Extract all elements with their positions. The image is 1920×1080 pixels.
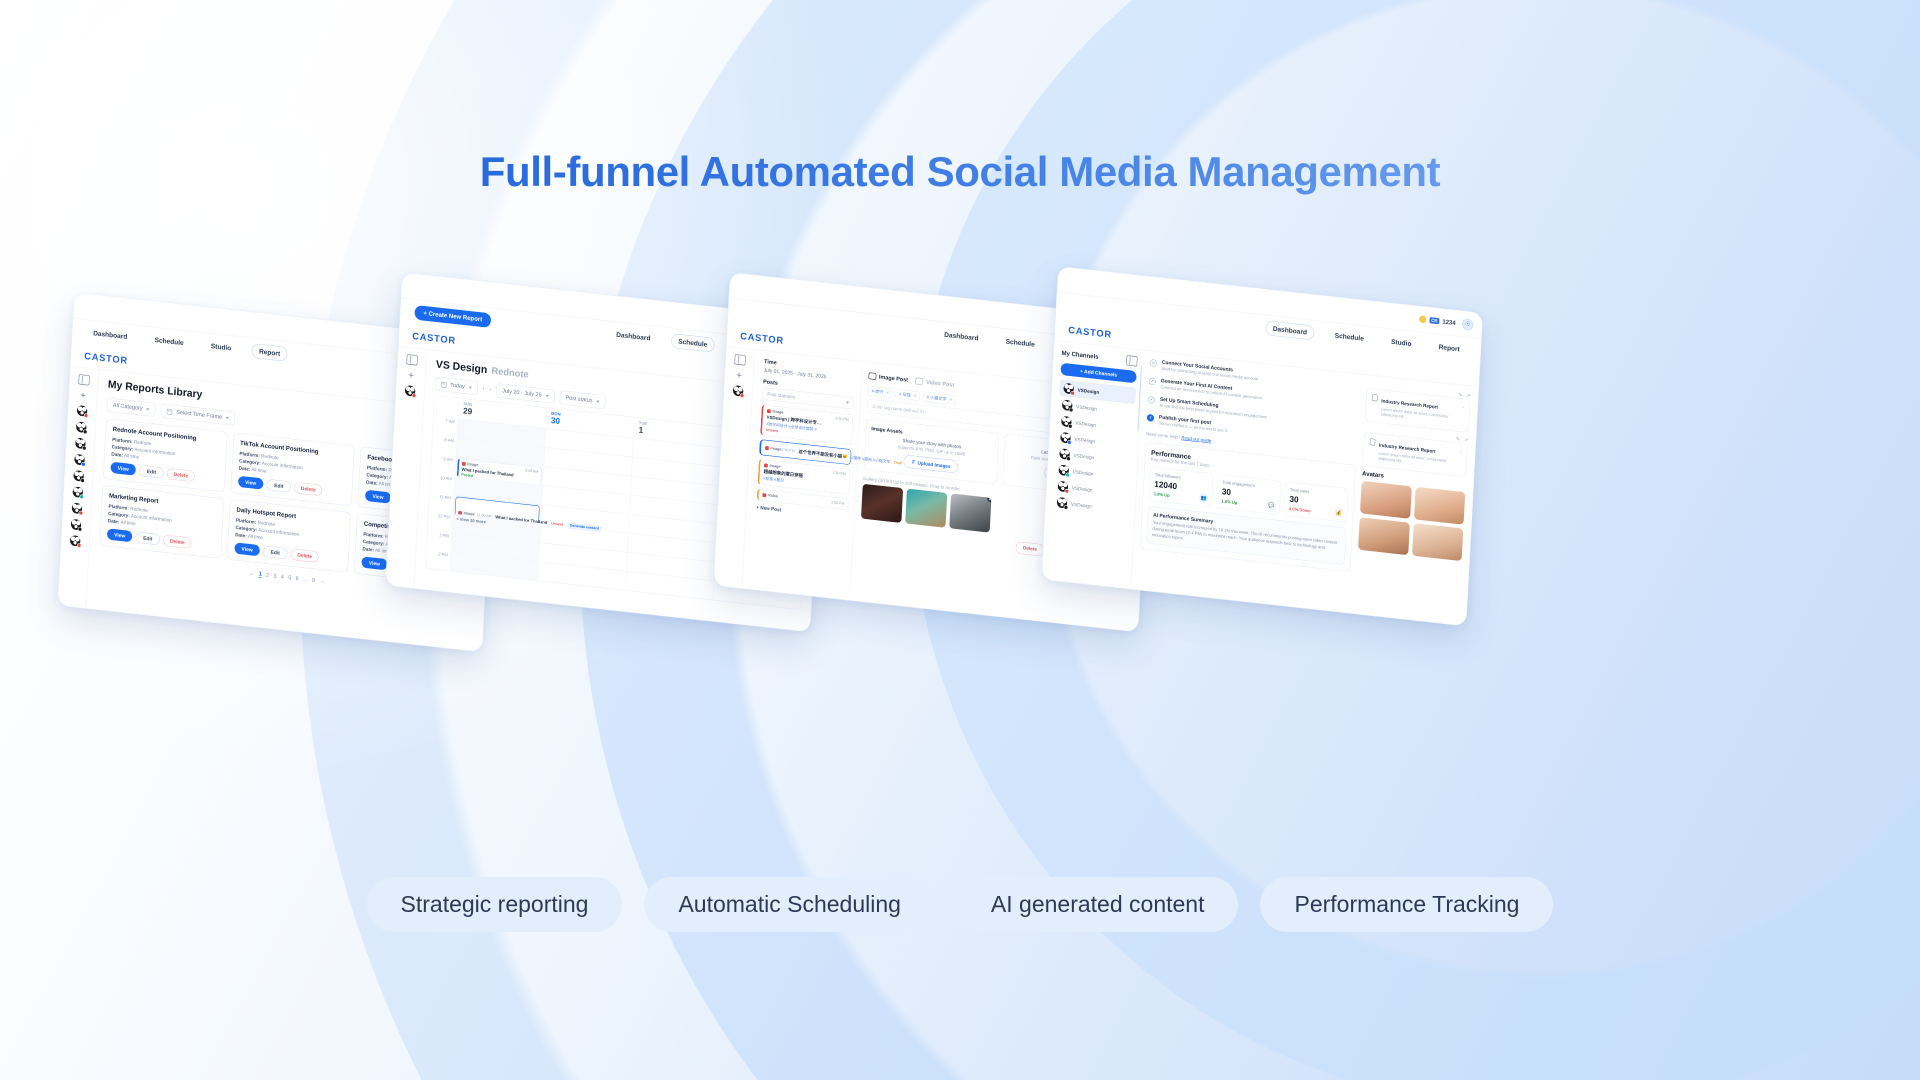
nav-schedule[interactable]: Schedule [1328, 328, 1371, 346]
dashboard-main: ✓ Connect Your Social Accounts Start by … [1138, 358, 1360, 606]
report-date: All time [251, 466, 266, 473]
performance-card: Performance Key metrics for the last 7 d… [1140, 442, 1356, 572]
upload-images-label: Upload Images [917, 460, 950, 469]
image-icon [868, 372, 876, 380]
next-week-icon[interactable]: › [489, 386, 491, 392]
post-time: 2:30 PM [833, 471, 846, 476]
report-card[interactable]: TikTok Account Positioning Platform: Red… [230, 432, 355, 506]
label-date: Date: [239, 465, 251, 472]
post-time: 2:30 PM [781, 448, 794, 453]
channel-avatar [1057, 497, 1068, 509]
gallery-label: Gallery [863, 476, 877, 483]
feature-captions: Strategic reporting Automatic Scheduling… [0, 877, 1920, 932]
channel-avatar[interactable] [71, 502, 82, 514]
sidebar-toggle-icon[interactable] [1126, 355, 1137, 366]
hour-label: 1 PM [427, 530, 452, 552]
schedule-platform-name: Rednote [491, 365, 529, 380]
nav-dashboard[interactable]: Dashboard [937, 327, 985, 346]
avatar-thumbnail[interactable] [1412, 523, 1464, 561]
chevron-right-icon[interactable]: › [1460, 448, 1462, 454]
delete-button[interactable]: Delete [290, 549, 318, 563]
add-channel-icon[interactable]: + [408, 370, 414, 380]
today-button[interactable]: Today [435, 377, 479, 396]
sidebar-toggle-icon[interactable] [78, 374, 89, 385]
label-date: Date: [366, 479, 378, 486]
caption-strategic-reporting: Strategic reporting [367, 877, 623, 932]
pagination-page[interactable]: 6 [295, 575, 298, 581]
credits-indicator: CR 1234 [1419, 315, 1456, 326]
calendar-icon [441, 381, 447, 387]
prev-week-icon[interactable]: ‹ [483, 386, 485, 392]
delete-button[interactable]: Delete [294, 482, 322, 496]
edit-icon[interactable]: ✎ [1458, 392, 1462, 399]
metric-card: Total followers 12040 1.8% Up 👥 [1148, 467, 1213, 508]
channel-avatar [1057, 481, 1068, 493]
gallery-thumbnail[interactable] [861, 484, 903, 523]
channel-avatar[interactable] [74, 454, 85, 466]
close-icon[interactable]: ✕ [949, 397, 953, 402]
step-check-icon: ✓ [1148, 396, 1155, 404]
channel-avatar[interactable] [77, 405, 88, 417]
coin-icon [1419, 315, 1426, 323]
avatar-thumbnail[interactable] [1360, 481, 1412, 519]
pagination-page[interactable]: 3 [273, 573, 276, 579]
channel-avatar [1060, 432, 1071, 444]
channel-avatar[interactable] [405, 385, 416, 397]
user-avatar-icon[interactable]: ☉ [1462, 318, 1474, 330]
delete-button[interactable]: Delete [167, 468, 195, 482]
timeframe-filter[interactable]: Select Time Frame [161, 404, 236, 426]
upload-images-button[interactable]: ⇧ Upload Images [903, 454, 959, 473]
upload-icon: ⇧ [911, 459, 915, 466]
image-type-icon [764, 463, 768, 467]
post-type: Image [770, 446, 781, 451]
tag-chip[interactable]: # 穿搭✕ [895, 389, 920, 401]
tab-video-post[interactable]: Video Post [916, 378, 955, 389]
chevron-down-icon [846, 401, 849, 404]
tab-video-post-label: Video Post [926, 379, 954, 388]
post-list-item[interactable]: Image 4:30 PM VSDesign | 跨学科设计专… #跨学科设计 … [760, 405, 853, 446]
report-card[interactable]: Daily Hotspot Report Platform: Rednote C… [227, 499, 352, 573]
tag-chip[interactable]: # 小猫文学✕ [923, 392, 957, 405]
label-date: Date: [362, 546, 374, 553]
channel-name: VSDesign [1078, 387, 1100, 395]
pagination-page[interactable]: 1 [258, 571, 261, 578]
channel-avatar[interactable] [73, 470, 84, 482]
image-assets-dropzone[interactable]: Image Assets Share your story with photo… [864, 418, 1000, 484]
chevron-down-icon [469, 386, 472, 389]
add-channel-icon[interactable]: + [80, 390, 86, 400]
channel-name: VSDesign [1071, 501, 1092, 509]
my-channels-sidebar: My Channels + Add Channels VSDesign VSDe… [1050, 348, 1144, 582]
page-title: Full-funnel Automated Social Media Manag… [0, 148, 1920, 196]
my-channels-label: My Channels [1061, 350, 1098, 361]
category-filter[interactable]: All Category [107, 398, 157, 417]
label-date: Date: [235, 532, 247, 539]
close-icon[interactable]: ✕ [885, 390, 889, 395]
channel-avatar[interactable] [71, 519, 82, 531]
post-status-label: Post status [565, 395, 592, 404]
post-time: 2:30 PM [831, 501, 844, 506]
castor-logo: CASTOR [1068, 324, 1112, 340]
gallery-thumbnail-selected[interactable]: ✕ [949, 494, 991, 533]
document-icon [1372, 394, 1378, 401]
hour-label: 8 AM [432, 435, 457, 457]
channel-name: VSDesign [1076, 404, 1097, 412]
share-icon[interactable]: ↗ [1466, 393, 1470, 400]
channel-avatar [1058, 464, 1069, 476]
chevron-down-icon [146, 408, 149, 411]
step-current-icon: 4 [1147, 414, 1154, 422]
chevron-down-icon [596, 400, 599, 403]
tab-image-post-label: Image Post [879, 374, 908, 383]
engagement-icon: 💬 [1266, 500, 1276, 511]
report-card[interactable]: Rednote Account Positioning Platform: Re… [103, 418, 228, 492]
nav-report[interactable]: Report [252, 343, 288, 361]
caption-performance-tracking: Performance Tracking [1260, 877, 1553, 932]
report-card[interactable]: Marketing Report Platform: Rednote Categ… [99, 485, 224, 559]
pagination-ellipsis: ... [303, 576, 308, 583]
nav-dashboard[interactable]: Dashboard [86, 326, 134, 345]
channel-name: VSDesign [1072, 485, 1093, 493]
post-type: Video [768, 494, 779, 499]
report-platform: Rednote [261, 453, 279, 461]
avatar-thumbnail[interactable] [1414, 487, 1466, 525]
image-type-icon [767, 409, 771, 413]
create-new-report-button[interactable]: + Create New Report [414, 305, 491, 328]
nav-schedule[interactable]: Schedule [148, 332, 191, 350]
pagination-page[interactable]: 4 [281, 574, 284, 580]
step-check-icon: ✓ [1149, 377, 1156, 385]
chevron-down-icon [545, 395, 548, 398]
close-icon[interactable]: ✕ [913, 393, 917, 398]
channel-avatar [1061, 416, 1072, 428]
channel-name: VSDesign [1073, 468, 1094, 476]
edit-button[interactable]: Edit [266, 479, 291, 493]
view-button[interactable]: View [238, 476, 264, 490]
channel-avatar[interactable] [733, 385, 744, 397]
report-platform: Rednote [257, 520, 275, 528]
post-type: Image [769, 464, 780, 469]
tag-chip[interactable]: # 旅行✕ [868, 386, 893, 398]
hour-label: 2 PM [426, 549, 451, 571]
schedule-account-name: VS Design [436, 359, 488, 377]
castor-logo: CASTOR [84, 350, 128, 366]
calendar-icon [167, 408, 173, 414]
hour-label: 9 AM [431, 454, 456, 476]
hour-label: 11 AM [429, 492, 454, 514]
channel-avatar[interactable] [75, 438, 86, 450]
nav-schedule[interactable]: Schedule [999, 334, 1042, 352]
image-type-icon [765, 446, 769, 450]
report-date: All time [120, 519, 135, 526]
view-button[interactable]: View [361, 556, 387, 570]
chevron-right-icon[interactable]: › [1462, 404, 1464, 410]
channel-name: VSDesign [1073, 452, 1094, 460]
research-report-desc: Lorem ipsum dolor sit amet, consectetur … [1378, 451, 1455, 470]
label-date: Date: [111, 451, 123, 458]
step-check-icon: ✓ [1150, 359, 1157, 367]
date-range-picker[interactable]: July 20 - July 26 [496, 383, 555, 403]
nav-schedule[interactable]: Schedule [671, 333, 715, 352]
channel-avatar[interactable] [72, 486, 83, 498]
panel-performance-tracking[interactable]: CR 1234 ☉ Dashboard Schedule Studio Repo… [1041, 266, 1483, 626]
gallery-thumbnail[interactable] [905, 489, 947, 528]
credits-value: 1234 [1442, 318, 1456, 326]
avatar-thumbnail[interactable] [1358, 517, 1410, 555]
label-date: Date: [108, 518, 120, 525]
view-button[interactable]: View [234, 542, 260, 556]
edit-icon[interactable]: ✎ [1456, 436, 1460, 443]
nav-dashboard[interactable]: Dashboard [609, 327, 657, 346]
report-platform: Rednote [134, 439, 152, 447]
video-icon [916, 378, 924, 386]
remove-thumbnail-icon[interactable]: ✕ [987, 495, 992, 502]
channel-avatar [1063, 383, 1074, 395]
report-platform: Rednote [130, 506, 148, 514]
report-date: All time [124, 452, 139, 459]
timeframe-filter-label: Select Time Frame [176, 409, 222, 420]
pagination-prev-icon[interactable]: ← [249, 570, 255, 577]
sidebar-toggle-icon[interactable] [406, 354, 417, 365]
video-type-icon [762, 493, 766, 497]
avatar-grid [1358, 481, 1465, 561]
tab-image-post[interactable]: Image Post [868, 372, 908, 383]
edit-button[interactable]: Edit [135, 531, 160, 545]
view-button[interactable]: View [110, 462, 136, 476]
post-type: Image [772, 410, 783, 415]
post-time: 4:30 PM [835, 417, 848, 422]
view-button[interactable]: View [365, 490, 391, 504]
delete-button[interactable]: Delete [163, 535, 191, 549]
channel-name: VSDesign [1074, 436, 1095, 444]
caption-ai-generated-content: AI generated content [957, 877, 1239, 932]
delete-post-button[interactable]: Delete [1016, 541, 1045, 556]
sales-icon: 💰 [1334, 508, 1344, 519]
nav-dashboard[interactable]: Dashboard [1265, 320, 1314, 340]
pagination-page[interactable]: 9 [312, 577, 315, 583]
channel-name: VSDesign [1075, 420, 1096, 428]
studio-post-list: Time July 01, 2025 - July 31, 2025 Posts… [752, 359, 862, 593]
post-title: 这个世界不能没有小猫🐱 [798, 449, 847, 460]
image-type-icon [462, 462, 466, 466]
hour-label: 12 PM [428, 511, 453, 533]
tag-chip-label: # 旅行 [872, 388, 884, 394]
chevron-down-icon [226, 417, 229, 420]
read-guide-link[interactable]: Read our guide [1181, 435, 1211, 443]
channel-avatar [1062, 399, 1073, 411]
nav-studio[interactable]: Studio [1384, 334, 1418, 351]
tag-chip-label: # 穿搭 [899, 391, 911, 397]
category-filter-label: All Category [113, 402, 143, 411]
add-channel-icon[interactable]: + [736, 370, 742, 380]
nav-studio[interactable]: Studio [204, 339, 238, 356]
help-text: Need some help? [1146, 431, 1180, 440]
pagination-page[interactable]: 5 [288, 574, 291, 580]
hour-label: 10 AM [430, 473, 455, 495]
research-report-desc: Lorem ipsum dolor sit amet, consectetur … [1380, 407, 1457, 426]
report-date: All time [248, 533, 263, 540]
channel-avatar [1059, 448, 1070, 460]
edit-button[interactable]: Edit [263, 545, 288, 559]
edit-button[interactable]: Edit [139, 465, 164, 479]
view-button[interactable]: View [107, 528, 133, 542]
sidebar-toggle-icon[interactable] [734, 354, 745, 365]
pagination-page[interactable]: 2 [266, 572, 269, 578]
hour-label: 7 AM [433, 416, 458, 438]
caption-automatic-scheduling: Automatic Scheduling [644, 877, 934, 932]
tag-chip-label: # 小猫文学 [927, 395, 947, 402]
pagination-next-icon[interactable]: → [319, 578, 325, 585]
post-status-placeholder: Post statuses [767, 391, 795, 400]
followers-icon: 👥 [1199, 493, 1209, 504]
share-icon[interactable]: ↗ [1464, 437, 1468, 444]
channel-avatar[interactable] [76, 421, 87, 433]
castor-logo: CASTOR [740, 330, 784, 346]
date-range-label: July 20 - July 26 [502, 388, 542, 398]
document-icon [1370, 438, 1376, 445]
metric-card: Total sales 30 4.0% Down 💰 [1284, 481, 1349, 522]
metric-card: Total engagement 30 1.6% Up 💬 [1216, 474, 1281, 515]
nav-report[interactable]: Report [1432, 339, 1467, 356]
channel-avatar[interactable] [70, 535, 81, 547]
today-label: Today [450, 382, 465, 390]
castor-logo: CASTOR [412, 330, 456, 346]
credit-card-icon: CR [1429, 317, 1439, 324]
post-status-filter[interactable]: Post status [559, 390, 606, 409]
dashboard-right-rail: ✎ ↗ Industry Research Report Lorem ipsum… [1355, 382, 1471, 619]
